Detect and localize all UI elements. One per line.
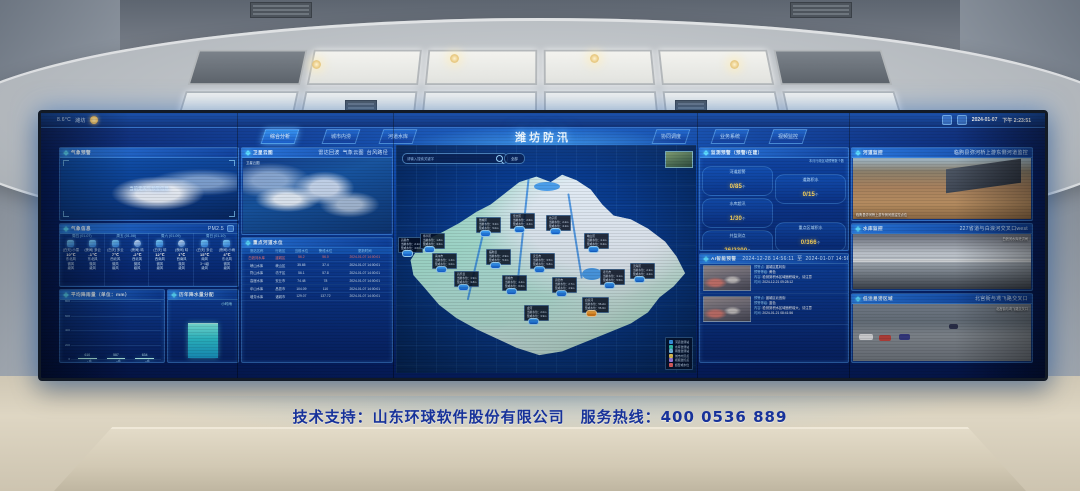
ceiling-spotlight-4 [730,60,739,69]
table-row[interactable]: 符山水库坊子区56.157.82024-01-07 14:00:01 [242,269,392,277]
panel-satellite-cloud[interactable]: 卫星云图 雷达回波 气象云图 台风路径 卫星云图 [241,147,393,235]
video-overlay-label: 白浪河水库泄洪闸 [1003,236,1029,241]
stat-card[interactable]: 道路积水0/15个 [775,174,846,204]
ceiling-spotlight-3 [590,54,599,63]
distribution-bar-chart[interactable] [172,309,234,358]
legend-swatch [669,349,673,353]
update-time: 2024-01-07 14:00:01 [338,277,392,285]
alert-details: 预警点: 潍城区胜利街预警等级: 黄色内容: 检测到积水区域面积增大，请注意时间… [754,265,845,291]
ceiling-spotlight-1 [312,60,321,69]
map-station-pin[interactable] [480,230,491,237]
map-legend: 河道监测站水库监测站雨量监测站城市内涝点视频监控点超警戒水位 [665,337,693,370]
current-level: 129.07 [289,292,313,300]
river-line [567,194,582,279]
weather-date: 周日 (01-10) [194,234,239,239]
panel-body: 预警点: 潍城区胜利街预警等级: 黄色内容: 检测到积水区域面积增大，请注意时间… [700,263,848,362]
diamond-icon [855,150,861,156]
stats-column-left: 河道超警0/85个水库超汛1/30个共监测点26/2300个 [702,166,773,251]
photo-caption: 技术支持：山东环球软件股份有限公司 服务热线：400 0536 889 [0,406,1080,427]
stat-card[interactable]: 水库超汛1/30个 [702,198,773,228]
admin-area: 昌邑市 [271,285,289,293]
vehicle [899,334,910,340]
diamond-icon [245,150,251,156]
tab-label: 业务系统 [720,133,740,140]
panel-body: 本月行政区域预警数个数 河道超警0/85个水库超汛1/30个共监测点26/230… [700,157,848,250]
stat-unit: 个 [742,217,745,221]
panel-video-lowland[interactable]: 低洼易涝区域 北宫街与鸢飞路交叉口 北宫街与鸢飞路交叉口 [851,293,1033,363]
panel-body: 白浪河水库泄洪闸 [852,233,1032,290]
tab-urban-waterlogging[interactable]: 城市内涝 [322,129,361,144]
current-level: 104.09 [289,285,313,293]
stats-column-right: 道路积水0/15个重点区域积水0/366个 [775,166,846,251]
table-row[interactable]: 高崖水库安丘市74.48782024-01-07 14:00:01 [242,277,392,285]
station-name: 峡山水库 [242,261,271,269]
current-level: 35.65 [289,261,313,269]
alert-time-sep: 至 [797,255,802,262]
map-station-pin[interactable] [604,282,615,289]
map-station-pin[interactable] [514,226,525,233]
map-station-pin[interactable] [588,246,599,253]
expand-icon[interactable] [227,225,234,232]
station-name: 白浪河水库 [242,254,271,261]
weather-wind-extra: 级风 [216,266,238,270]
diamond-icon [63,150,69,156]
ceiling-light-panel [306,50,422,85]
admin-area: 坊子区 [271,269,289,277]
map-station-pin[interactable] [436,266,447,273]
panel-title: AI智能预警 [711,256,736,262]
weather-day-column[interactable]: 周日 (01-10)(白天) 多云15℃南风3~4级级风(夜间) 小雨4℃东北风… [194,233,239,286]
sun-cloud-icon [201,240,208,247]
wall-bezel-seam [697,113,698,378]
diamond-icon [63,292,69,298]
ceiling-light-panel [658,50,774,85]
admin-area: 潍城区 [271,254,289,261]
sun-cloud-icon [90,116,98,124]
station-name: 牟山水库 [242,285,271,293]
panel-body: 临朐县弥河桥上游东侧河道监控点位 [852,157,1032,220]
search-icon[interactable] [496,155,503,162]
panel-water-level-table[interactable]: 重点河道水位 测站名称行政区当前水位警戒水位更新时间 白浪河水库潍城区56.25… [241,237,393,363]
chart-legend-label: 小时雨 [221,302,232,307]
stat-unit: 个 [747,249,750,251]
weather-day-column[interactable]: 周六 (01-09)(白天) 晴12℃西南风微风级风(夜间) 晴1℃西南风微风级… [149,233,194,286]
alert-field: 时间: 2024-01-21 08:41:56 [754,311,845,316]
user-icon[interactable] [957,115,967,125]
admin-area: 诸城市 [271,292,289,300]
reservoir-feed[interactable]: 白浪河水库泄洪闸 [853,234,1031,289]
panel-video-river[interactable]: 河道监控 临朐县弥河桥上游东侧河道监控 临朐县弥河桥上游东侧河道监控点位 [851,147,1033,221]
map-filter-chip[interactable]: 全部 [504,153,525,164]
map-station-pin[interactable] [402,250,413,257]
cloud-icon [89,240,96,247]
alert-time-to[interactable]: 2024-01-07 14:56:11 [805,256,849,262]
panel-title: 历年降水量分配 [179,292,214,298]
weather-forecast-grid: 周四 (01-07)(白天) 小雪10℃东北风微风级风(夜间) 多云-1℃东北风… [60,233,238,286]
diamond-icon [703,256,709,262]
stat-unit: 个 [815,193,818,197]
warn-level: 137.72 [313,292,337,300]
diamond-icon [171,292,177,298]
weather-wind-extra: 级风 [194,266,216,270]
table-header-row: 测站名称行政区当前水位警戒水位更新时间 [242,247,392,254]
update-time: 2024-01-07 14:00:01 [338,285,392,293]
dashboard-title: 潍坊防汛 [515,129,571,145]
legend-swatch [669,340,673,344]
current-level: 56.2 [289,254,313,261]
tab-label: 城市内涝 [331,133,351,140]
vehicle [879,335,891,341]
panel-title: 气象信息 [71,226,91,232]
panel-body: 测站名称行政区当前水位警戒水位更新时间 白浪河水库潍城区56.256.02024… [242,247,392,362]
legend-label: 超警戒水位 [675,363,689,367]
chart-y-tick: 0 [68,357,70,361]
update-time: 2024-01-07 14:00:01 [338,261,392,269]
warn-level: 78 [313,277,337,285]
weather-nighttime: (夜间) 晴-2℃西北风微风级风 [126,240,148,271]
panel-title: 监测预警（预警/在建） [711,150,763,156]
panel-video-reservoir[interactable]: 水库监控 227省道与白浪河交叉口west 白浪河水库泄洪闸 [851,223,1033,291]
map-station-pin[interactable] [556,290,567,297]
vehicle [949,324,958,329]
weather-daytime: (白天) 小雪10℃东北风微风级风 [60,240,82,271]
street-flood-thumb[interactable] [703,296,751,322]
panel-body: 北宫街与鸢飞路交叉口 [852,303,1032,362]
ceiling-panel-dark [188,50,307,85]
admin-area: 安丘市 [271,277,289,285]
map-station-pin[interactable] [634,276,645,283]
sun-cloud-icon [112,240,119,247]
panel-body: 周四 (01-07)(白天) 小雪10℃东北风微风级风(夜间) 多云-1℃东北风… [60,233,238,286]
warn-level: 110 [313,285,337,293]
cloud-icon [223,240,230,247]
panel-title: 气象预警 [71,150,91,156]
wall-bezel-seam [393,113,394,378]
map-site-thumbnail[interactable] [665,151,693,168]
map-station-pin[interactable] [424,246,435,253]
corner-marker [63,160,69,166]
panel-monitor-stats[interactable]: 监测预警（预警/在建） 本月行政区域预警数个数 河道超警0/85个水库超汛1/3… [699,147,849,251]
table-column-header: 行政区 [271,247,289,254]
weather-date: 周四 (01-07) [60,234,104,239]
chart-bar[interactable]: 6102021年 [78,358,97,359]
chart-bar [188,323,218,358]
weather-date: 周六 (01-09) [149,234,193,239]
alert-item[interactable]: 预警点: 潍城区北宫街预警等级: 蓝色内容: 检测到积水区域面积增大，请注意时间… [700,294,848,325]
stat-value: 0/366 [801,240,817,246]
panel-title: 水库监控 [863,226,883,232]
stat-card[interactable]: 重点区域积水0/366个 [775,222,846,251]
photo-scene: 8.6°C 潍坊 2024-01-07 下午 2:23:51 综合分析 城市内涝… [0,0,1080,491]
sat-tab-radar[interactable]: 雷达回波 [318,149,339,156]
map-station-pin[interactable] [458,284,469,291]
expand-icon[interactable] [229,211,235,217]
stat-card[interactable]: 共监测点26/2300个 [702,230,773,251]
video-channel-name[interactable]: 临朐县弥河桥上游东侧河道监控 [954,149,1028,156]
road-intersection-feed[interactable]: 北宫街与鸢飞路交叉口 [853,304,1031,361]
chart-bars [174,309,232,358]
corner-marker [63,211,69,217]
diamond-icon [855,296,861,302]
alert-field: 时间: 2024-12-21 09:28:12 [754,280,845,285]
diamond-icon [703,150,709,156]
weather-daytime: (白天) 多云7℃西北风微风级风 [105,240,127,271]
weather-radar-map[interactable]: 当前无天气预警信息 [61,158,237,219]
alert-time-from[interactable]: 2024-12-28 14:56:11 [742,256,794,262]
satellite-overlay-label: 卫星云图 [246,160,260,165]
stat-unit: 个 [817,241,820,245]
stat-unit: 个 [742,185,745,189]
ceiling-panel-dark [773,50,892,85]
weather-alert-empty-text: 当前无天气预警信息 [129,186,169,192]
ceiling-light-panel [425,50,537,85]
sun-cloud-icon [67,240,74,247]
ceiling-spotlight-2 [450,54,459,63]
weather-daytime: (白天) 晴12℃西南风微风级风 [149,240,171,271]
map-station-pin[interactable] [534,266,545,273]
map-search-input[interactable]: 请输入搜索关键字 [402,153,508,164]
panel-title: 低洼易涝区域 [863,296,893,302]
weather-date: 周五 (01-08) [105,234,149,239]
stat-value: 1/30 [730,216,742,222]
chart-y-tick: 800 [65,299,70,303]
alert-details: 预警点: 潍城区北宫街预警等级: 蓝色内容: 检测到积水区域面积增大，请注意时间… [754,296,845,322]
sun-icon [156,240,163,247]
legend-item[interactable]: 超警戒水位 [669,363,689,367]
weather-nighttime: (夜间) 多云-1℃东北风微风级风 [82,240,104,271]
corner-marker [229,160,235,166]
monitor-stats-grid: 河道超警0/85个水库超汛1/30个共监测点26/2300个 道路积水0/15个… [702,166,846,248]
diamond-icon [245,240,251,246]
station-name: 墙夼水库 [242,292,271,300]
table-row[interactable]: 墙夼水库诸城市129.07137.722024-01-07 14:00:01 [242,292,392,300]
legend-swatch [669,354,673,358]
weather-nighttime: (夜间) 晴1℃西南风微风级风 [171,240,193,271]
chart-bar[interactable]: 5872022年 [107,358,126,359]
video-channel-name[interactable]: 227省道与白浪河交叉口west [960,225,1028,232]
map-station-pin[interactable] [550,228,561,235]
diamond-icon [63,226,69,232]
map-station-pin[interactable] [528,318,539,325]
stat-value: 0/15 [803,192,815,198]
legend-swatch [669,358,673,362]
panel-rain-distribution[interactable]: 历年降水量分配 小时雨 [167,289,239,363]
lake-shape [534,182,560,191]
update-time: 2024-01-07 14:00:01 [338,254,392,261]
panel-body: 小时雨 [168,299,238,362]
panel-title: 重点河道水位 [253,240,283,246]
weather-wind-extra: 级风 [149,266,171,270]
ceiling-vent-right [790,2,852,18]
warn-level: 37.4 [313,261,337,269]
panel-rainfall-chart[interactable]: 平均降雨量（单位：mm） 0200400600800 6102021年58720… [59,289,165,363]
satellite-cloud-image[interactable]: 卫星云图 [243,158,391,233]
ceiling-light-panel [543,50,655,85]
weather-wind-extra: 级风 [126,266,148,270]
tab-label: 视频监控 [778,133,798,140]
stats-group-label: 本月行政区域预警数个数 [809,158,844,163]
stat-card[interactable]: 河道超警0/85个 [702,166,773,196]
sat-tab-typhoon[interactable]: 台风路径 [367,149,388,156]
weather-daytime: (白天) 多云15℃南风3~4级级风 [194,240,216,271]
video-overlay-label: 临朐县弥河桥上游东侧河道监控点位 [856,212,907,217]
status-temperature: 8.6°C [57,117,71,123]
legend-swatch [669,345,673,349]
panel-weather-alert[interactable]: 气象预警 当前无天气预警信息 [59,147,239,221]
table-column-header: 更新时间 [338,247,392,254]
led-video-wall[interactable]: 8.6°C 潍坊 2024-01-07 下午 2:23:51 综合分析 城市内涝… [38,110,1048,381]
warn-level: 56.0 [313,254,337,261]
weather-day-column[interactable]: 周五 (01-08)(白天) 多云7℃西北风微风级风(夜间) 晴-2℃西北风微风… [105,233,150,286]
table-row[interactable]: 牟山水库昌邑市104.091102024-01-07 14:00:01 [242,285,392,293]
panel-body: 0200400600800 6102021年5872022年6342023年 [60,299,164,362]
legend-swatch [669,363,673,367]
update-time: 2024-01-07 14:00:01 [338,292,392,300]
weather-wind-extra: 级风 [82,266,104,270]
chart-y-tick: 200 [65,343,70,347]
table-column-header: 当前水位 [289,247,313,254]
alert-item[interactable]: 预警点: 潍城区胜利街预警等级: 黄色内容: 检测到积水区域面积增大，请注意时间… [700,263,848,294]
pm25-label: PM2.5 [208,226,224,232]
ai-alert-list: 预警点: 潍城区胜利街预警等级: 黄色内容: 检测到积水区域面积增大，请注意时间… [700,263,848,325]
sat-tab-cloud[interactable]: 气象云图 [343,149,364,156]
table-row[interactable]: 峡山水库峡山区35.6537.42024-01-07 14:00:01 [242,261,392,269]
current-level: 56.1 [289,269,313,277]
stat-value: 0/85 [730,184,742,190]
panel-ai-alerts[interactable]: AI智能预警 2024-12-28 14:56:11 至 2024-01-07 … [699,253,849,363]
tab-business-system[interactable]: 业务系统 [711,129,750,144]
wall-bezel-seam [849,113,850,378]
ceiling-vent-left [250,2,312,18]
update-time: 2024-01-07 14:00:01 [338,269,392,277]
vehicle [859,334,873,340]
station-name: 高崖水库 [242,277,271,285]
stat-value: 26/2300 [724,248,747,251]
moon-icon [178,240,185,247]
weather-wind-extra: 级风 [105,266,127,270]
weather-day-column[interactable]: 周四 (01-07)(白天) 小雪10℃东北风微风级风(夜间) 多云-1℃东北风… [60,233,105,286]
tab-comprehensive-analysis[interactable]: 综合分析 [261,129,300,144]
water-level-table[interactable]: 测站名称行政区当前水位警戒水位更新时间 白浪河水库潍城区56.256.02024… [242,247,392,301]
video-channel-name[interactable]: 北宫街与鸢飞路交叉口 [975,295,1028,302]
table-column-header: 测站名称 [242,247,271,254]
table-body: 白浪河水库潍城区56.256.02024-01-07 14:00:01峡山水库峡… [242,254,392,300]
grid-icon[interactable] [942,115,952,125]
status-city: 潍坊 [75,117,86,124]
rainfall-bar-chart[interactable]: 0200400600800 6102021年5872022年6342023年 [71,301,161,359]
panel-title: 平均降雨量（单位：mm） [71,292,130,298]
weifang-map[interactable]: 请输入搜索关键字 全部 昌邑市当前水位：2.1m警戒水位：4.0m寒亭区当前水位… [396,145,696,373]
chart-y-tick: 400 [65,328,70,332]
wall-bezel-seam [237,113,238,378]
table-column-header: 警戒水位 [313,247,337,254]
weather-wind-extra: 级风 [171,266,193,270]
street-flood-thumb[interactable] [703,265,751,291]
chart-bars: 6102021年5872022年6342023年 [73,301,159,359]
stage-platform [54,427,1026,491]
table-row[interactable]: 白浪河水库潍城区56.256.02024-01-07 14:00:01 [242,254,392,261]
panel-title: 河道监控 [863,150,883,156]
chart-y-axis: 0200400600800 [61,301,71,359]
map-search-placeholder: 请输入搜索关键字 [407,156,493,161]
map-station-pin[interactable] [490,262,501,269]
tab-label: 综合分析 [270,133,290,140]
warn-level: 57.8 [313,269,337,277]
panel-title: 卫星云图 [253,150,273,156]
chart-y-tick: 600 [65,314,70,318]
river-bank-feed[interactable]: 临朐县弥河桥上游东侧河道监控点位 [853,158,1031,219]
map-station-pin[interactable] [586,310,597,317]
status-date: 2024-01-07 [972,117,998,123]
tab-video-monitoring[interactable]: 视频监控 [769,129,808,144]
weather-nighttime: (夜间) 小雨4℃东北风微风级风 [216,240,238,271]
admin-area: 峡山区 [271,261,289,269]
status-time: 下午 2:23:51 [1002,117,1031,124]
panel-weather-info[interactable]: 气象信息 PM2.5 周四 (01-07)(白天) 小雪10℃东北风微风级风(夜… [59,223,239,287]
diamond-icon [855,226,861,232]
video-overlay-label: 北宫街与鸢飞路交叉口 [996,306,1028,311]
map-station-pin[interactable] [506,288,517,295]
station-name: 符山水库 [242,269,271,277]
current-level: 74.48 [289,277,313,285]
chart-bar[interactable]: 6342023年 [135,358,154,359]
panel-body: 卫星云图 [242,157,392,234]
moon-icon [134,240,141,247]
panel-body: 当前无天气预警信息 [60,157,238,220]
dashboard-status-bar: 8.6°C 潍坊 2024-01-07 下午 2:23:51 [41,113,1045,128]
weather-wind-extra: 级风 [60,266,82,270]
